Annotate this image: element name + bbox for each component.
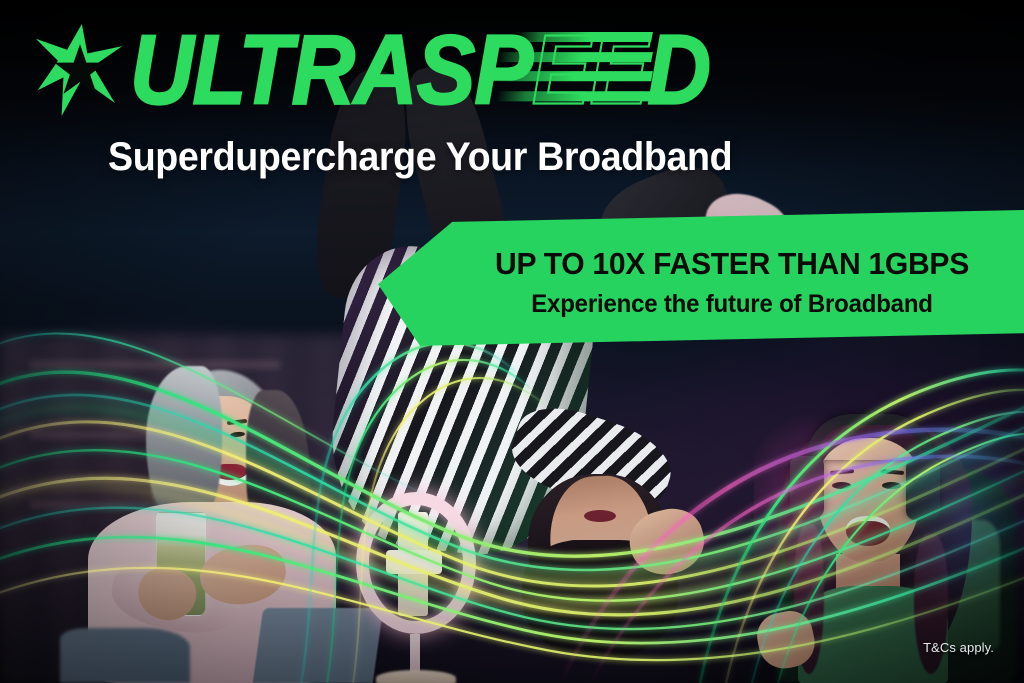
headphones-band-icon xyxy=(806,414,934,460)
headline-subtitle: Superdupercharge Your Broadband xyxy=(108,136,732,178)
logo-text-ultrasp: ULTRASP xyxy=(130,14,532,125)
headphone-earcup-right xyxy=(906,458,940,520)
ring-light-base xyxy=(376,670,456,683)
advertisement-canvas: ULTRASPEED Superdupercharge Your Broadba… xyxy=(0,0,1024,683)
terms-and-conditions: T&Cs apply. xyxy=(923,640,994,655)
eye-right xyxy=(882,482,901,489)
phone-clamp xyxy=(386,550,442,574)
logo-text-ee: EE xyxy=(532,14,647,125)
headphone-earcup-left xyxy=(790,456,824,518)
mouth xyxy=(584,510,616,522)
mouth-cheering xyxy=(846,516,890,546)
promo-headline: UP TO 10X FASTER THAN 1GBPS xyxy=(460,248,1003,279)
ring-light-prop xyxy=(352,488,482,683)
promo-subheadline: Experience the future of Broadband xyxy=(463,292,1001,317)
star-icon xyxy=(34,22,126,118)
brand-wordmark: ULTRASPEED xyxy=(130,23,710,117)
brand-logo[interactable]: ULTRASPEED xyxy=(34,22,710,118)
logo-speed-stripes: EE xyxy=(532,14,647,125)
eye-left xyxy=(832,482,851,489)
jeans xyxy=(60,628,190,683)
logo-text-d: D xyxy=(647,14,710,125)
